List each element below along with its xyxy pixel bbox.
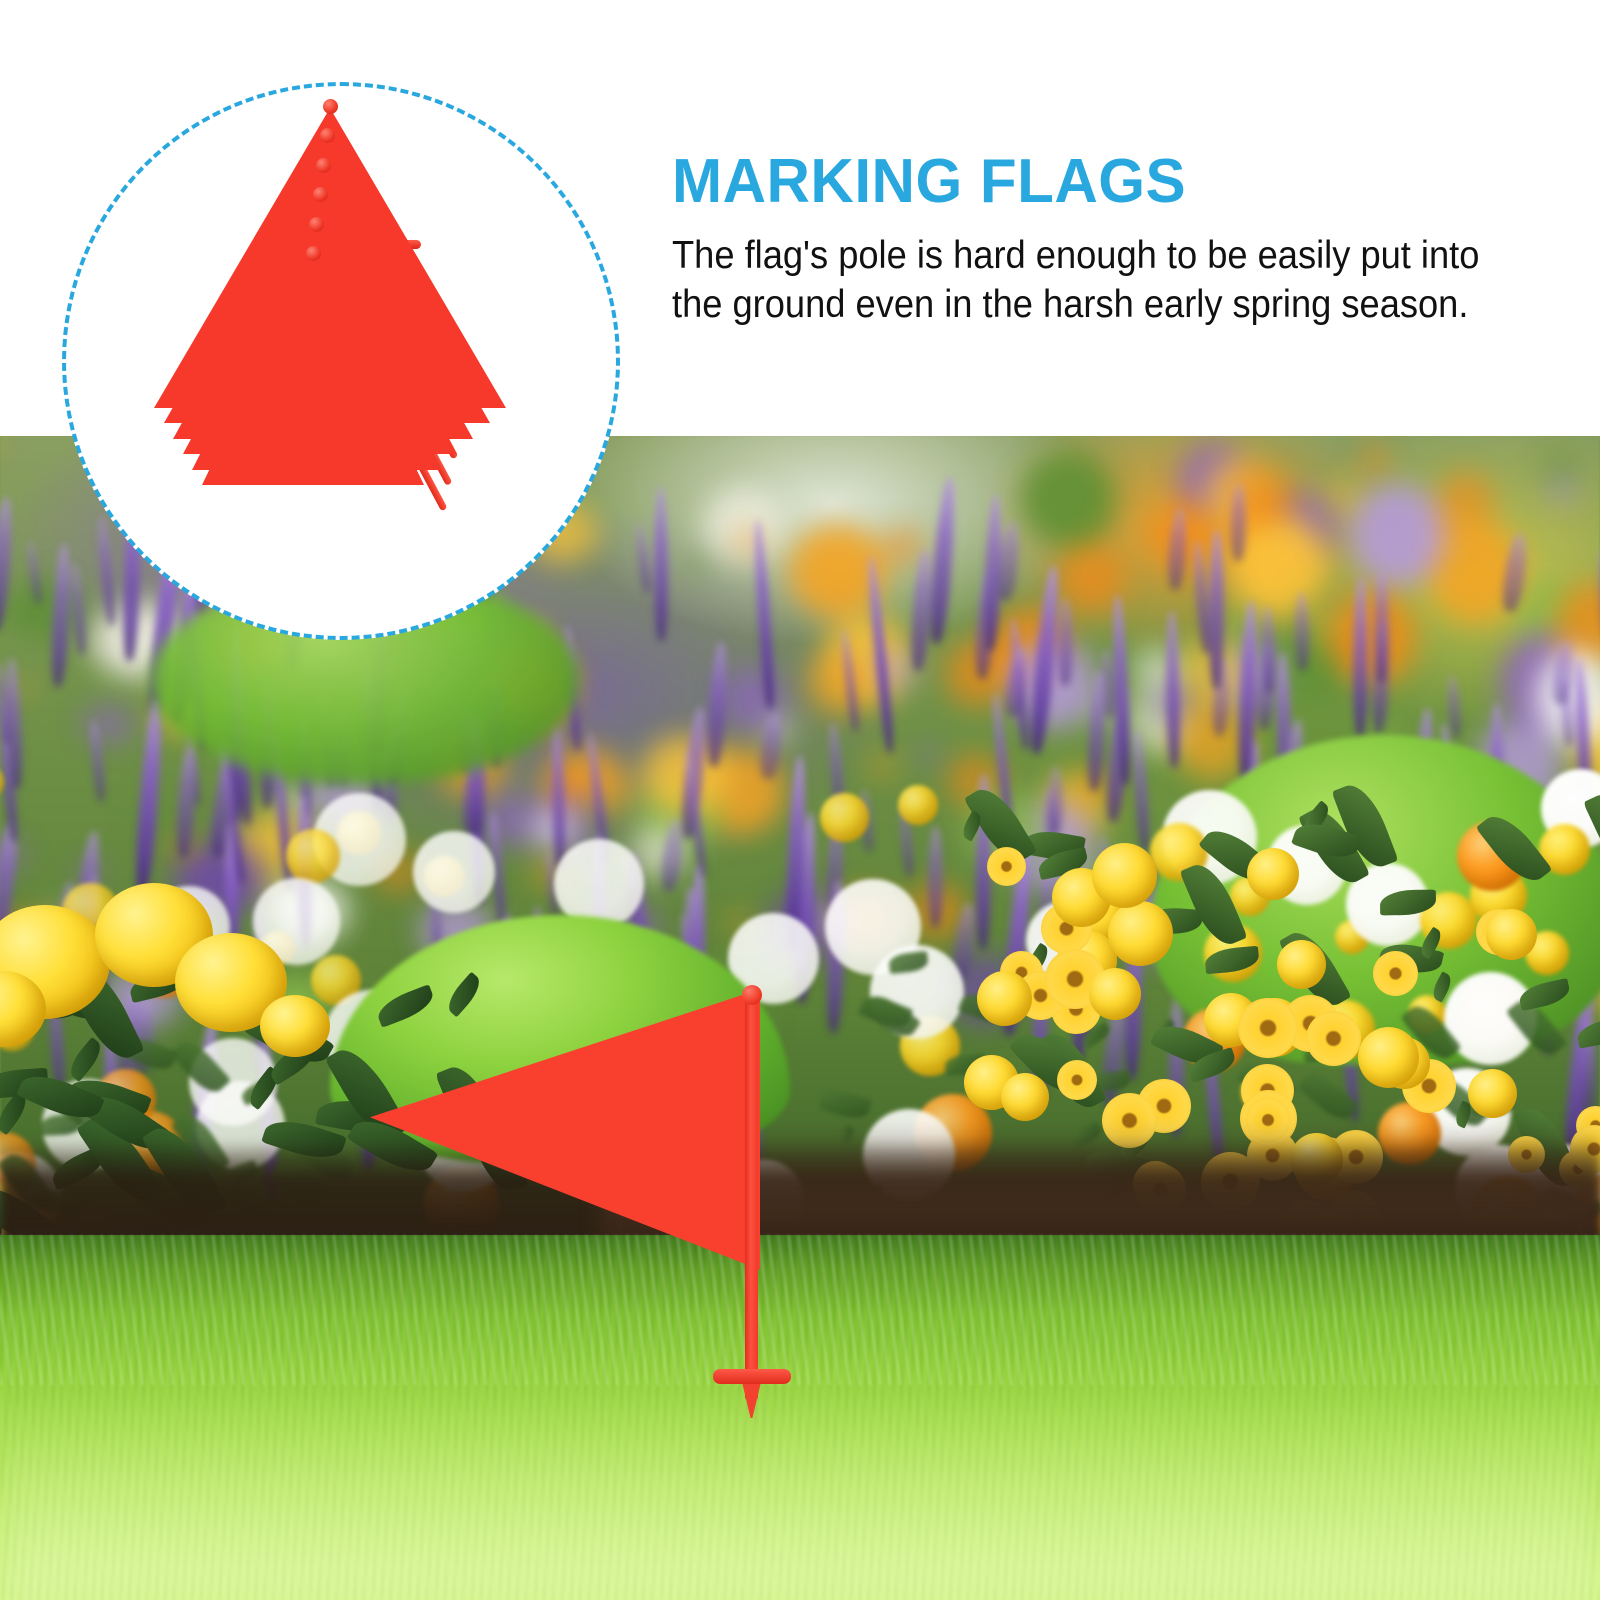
salvia-spike	[1058, 599, 1073, 686]
midground-blossom	[820, 793, 869, 842]
salvia-spike	[1500, 532, 1531, 613]
stacked-flag-ball-icon	[323, 99, 338, 114]
salvia-spike	[752, 520, 777, 709]
salvia-spike	[1294, 592, 1309, 671]
salvia-spike	[1165, 611, 1182, 768]
product-closeup-inset	[62, 82, 620, 640]
main-marking-flag	[370, 980, 800, 1450]
salvia-spike	[26, 540, 44, 606]
salvia-spike	[1353, 577, 1369, 738]
salvia-spike	[1167, 509, 1189, 591]
clump-foliage	[1429, 971, 1455, 1002]
stacked-flag-ball-icon	[306, 246, 321, 261]
salvia-spike	[0, 497, 15, 632]
lawn-texture-top	[0, 1235, 1600, 1385]
salvia-spike	[1374, 572, 1389, 683]
clump-foliage	[1476, 806, 1553, 891]
clump-foliage	[1517, 978, 1572, 1011]
salvia-spike	[1209, 530, 1225, 689]
clump-flower	[1238, 998, 1298, 1058]
foliage-leaf	[819, 1087, 872, 1123]
clump-flower	[977, 971, 1032, 1026]
salvia-spike	[634, 523, 653, 595]
clump-flower	[1247, 848, 1299, 900]
salvia-spike	[654, 487, 669, 641]
lawn	[0, 1235, 1600, 1600]
clump-flower	[1486, 909, 1537, 960]
midground-blossom	[898, 785, 938, 825]
salvia-spike	[705, 642, 729, 768]
flag-pole-ball-cap-icon	[742, 985, 762, 1005]
salvia-spike	[839, 629, 860, 732]
clump-flower	[1108, 901, 1173, 966]
clump-flower	[1306, 1011, 1361, 1066]
clump-flower	[1358, 1027, 1419, 1088]
header-text-block: MARKING FLAGS The flag's pole is hard en…	[672, 150, 1552, 329]
clump-foliage	[1583, 787, 1600, 881]
clump-flower	[1277, 940, 1326, 989]
clump-foliage	[1204, 946, 1260, 975]
product-image-canvas: MARKING FLAGS The flag's pole is hard en…	[0, 0, 1600, 1600]
stacked-flag-ball-icon	[320, 128, 335, 143]
product-description: The flag's pole is hard enough to be eas…	[672, 231, 1490, 329]
salvia-spike	[1446, 675, 1463, 739]
clump-flower	[1092, 843, 1157, 908]
clump-foliage	[1380, 890, 1436, 916]
clump-flower	[1089, 968, 1141, 1020]
flag-pole	[745, 994, 758, 1400]
page-title: MARKING FLAGS	[672, 150, 1526, 213]
clump-flower	[1057, 1060, 1097, 1100]
clump-foliage	[1575, 1016, 1600, 1048]
left-clump-foliage	[64, 1037, 106, 1082]
midground-blossom	[0, 765, 4, 799]
salvia-spike	[927, 477, 958, 645]
inset-clip	[66, 86, 616, 636]
salvia-spike	[1551, 641, 1576, 706]
clump-flower	[1468, 1069, 1517, 1118]
stacked-flag-ball-icon	[309, 217, 324, 232]
flag-banner-triangle	[370, 980, 760, 1285]
stacked-flag-ball-icon	[313, 187, 328, 202]
flag-crossbar	[713, 1369, 791, 1384]
stacked-flag-ball-icon	[316, 158, 331, 173]
clump-flower	[1001, 1073, 1049, 1121]
salvia-spike	[865, 556, 896, 753]
stacked-flag-blade	[154, 108, 506, 408]
left-marigold	[260, 995, 330, 1057]
stacked-flags-illustration	[66, 86, 616, 636]
salvia-spike	[1230, 484, 1246, 561]
clump-flower	[987, 847, 1026, 886]
lawn-highlight	[0, 1390, 1600, 1600]
clump-flower	[1373, 951, 1418, 996]
salvia-spike	[1597, 549, 1600, 640]
flag-pole-tip-icon	[742, 1382, 761, 1418]
